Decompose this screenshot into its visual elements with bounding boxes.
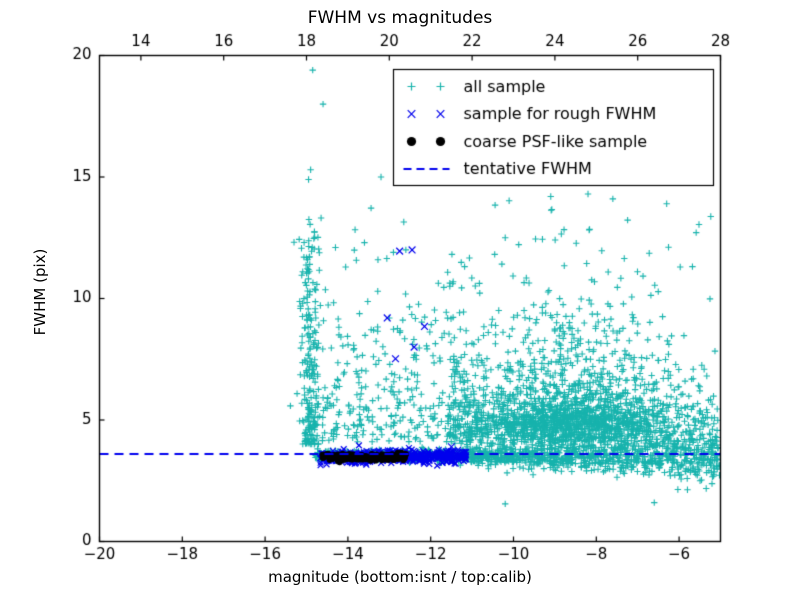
figure: FWHM vs magnitudes magnitude (bottom:isn… bbox=[0, 0, 800, 600]
scatter-plot-canvas[interactable] bbox=[0, 0, 800, 600]
x-axis-label: magnitude (bottom:isnt / top:calib) bbox=[0, 568, 800, 586]
y-axis-label: FWHM (pix) bbox=[31, 192, 49, 392]
chart-title: FWHM vs magnitudes bbox=[0, 8, 800, 28]
